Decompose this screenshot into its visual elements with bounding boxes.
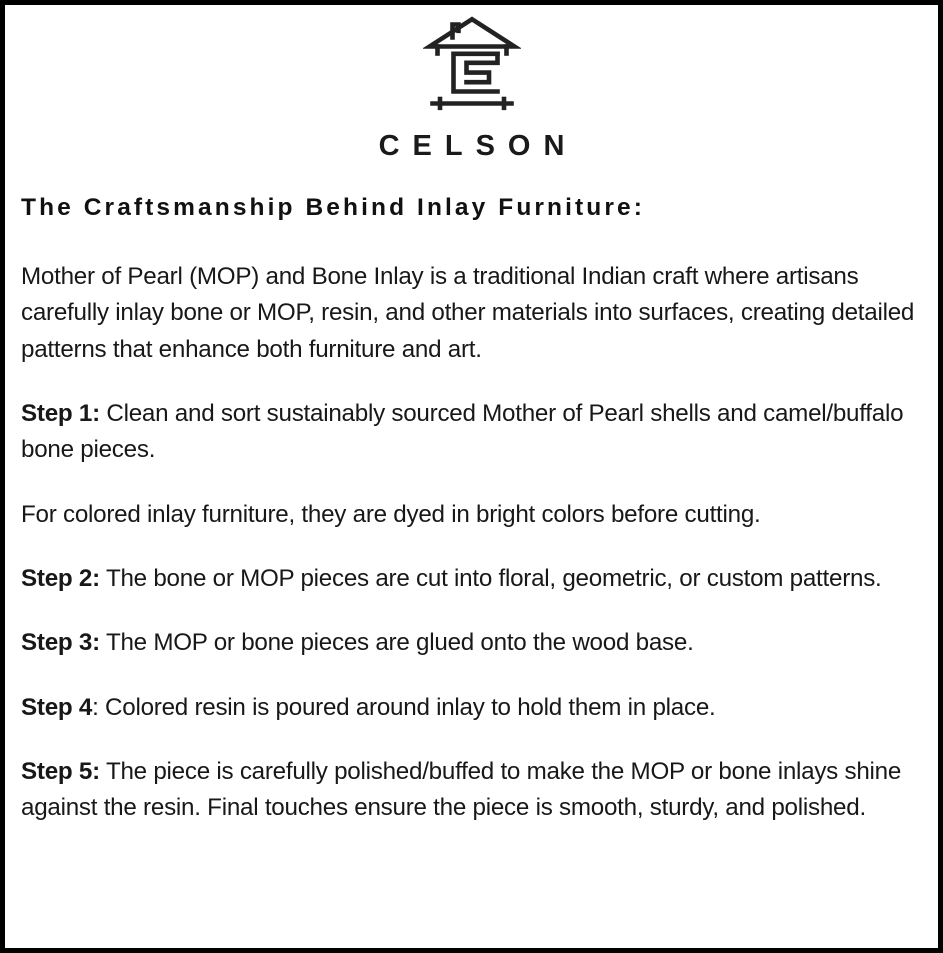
paragraph-text: The piece is carefully polished/buffed t… — [21, 758, 901, 821]
poster-card: CELSON The Craftsmanship Behind Inlay Fu… — [0, 0, 943, 953]
paragraph-lead: Step 5: — [21, 758, 100, 785]
paragraph-text: For colored inlay furniture, they are dy… — [21, 501, 761, 528]
page-title: The Craftsmanship Behind Inlay Furniture… — [18, 194, 925, 222]
paragraph-lead: Step 4 — [21, 694, 92, 721]
paragraph-text: : Colored resin is poured around inlay t… — [92, 694, 715, 721]
paragraph-dye-note: For colored inlay furniture, they are dy… — [21, 497, 923, 533]
brand-name: CELSON — [18, 132, 925, 161]
paragraph-step-2: Step 2: The bone or MOP pieces are cut i… — [21, 561, 923, 597]
paragraph-lead: Step 1: — [21, 400, 100, 427]
paragraph-step-5: Step 5: The piece is carefully polished/… — [21, 754, 923, 827]
paragraph-step-4: Step 4: Colored resin is poured around i… — [21, 690, 923, 726]
brand-block: CELSON — [18, 14, 925, 161]
paragraph-lead: Step 2: — [21, 565, 100, 592]
paragraph-step-1: Step 1: Clean and sort sustainably sourc… — [21, 396, 923, 469]
paragraph-intro: Mother of Pearl (MOP) and Bone Inlay is … — [21, 259, 923, 368]
house-monogram-logo-icon — [423, 15, 521, 115]
paragraph-text: Mother of Pearl (MOP) and Bone Inlay is … — [21, 263, 914, 363]
poster-content: CELSON The Craftsmanship Behind Inlay Fu… — [5, 5, 938, 948]
paragraph-text: Clean and sort sustainably sourced Mothe… — [21, 400, 903, 463]
paragraph-text: The MOP or bone pieces are glued onto th… — [100, 629, 694, 656]
paragraph-lead: Step 3: — [21, 629, 100, 656]
paragraph-step-3: Step 3: The MOP or bone pieces are glued… — [21, 625, 923, 661]
body-copy: Mother of Pearl (MOP) and Bone Inlay is … — [18, 259, 925, 826]
paragraph-text: The bone or MOP pieces are cut into flor… — [100, 565, 882, 592]
